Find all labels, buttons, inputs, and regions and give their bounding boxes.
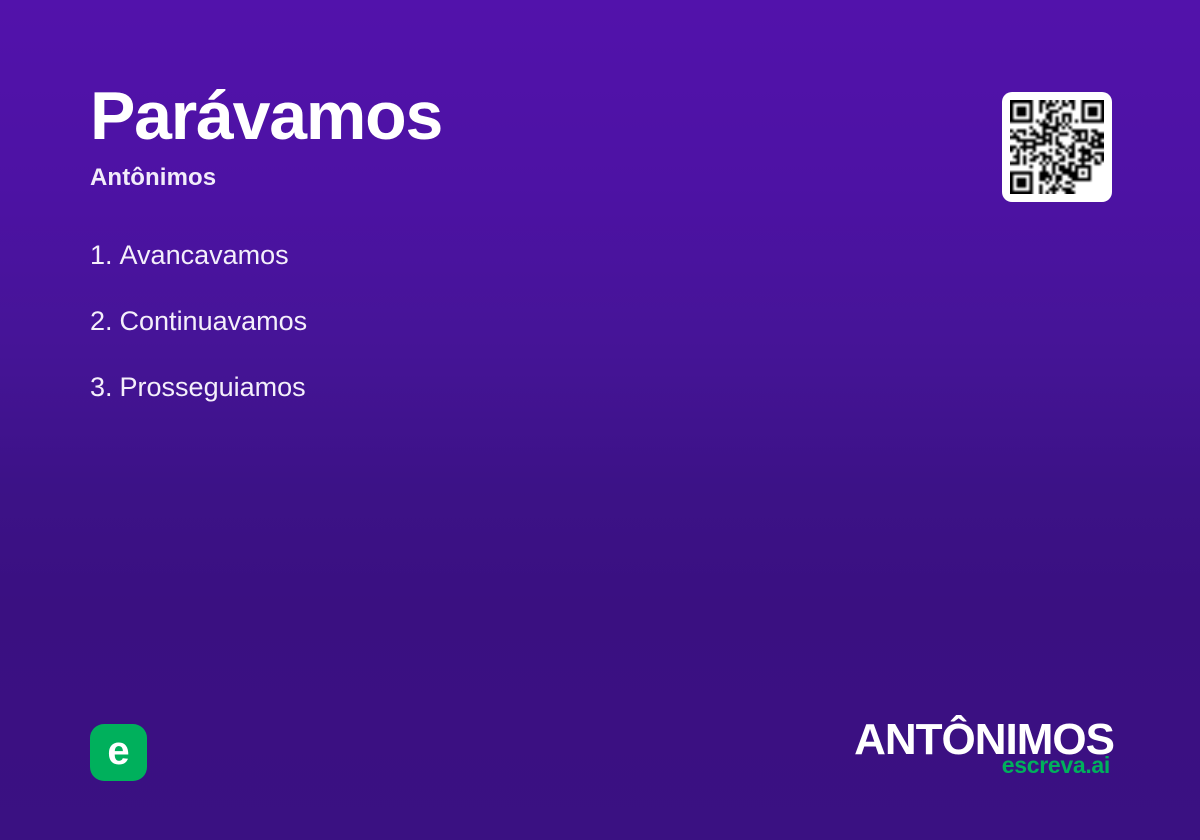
list-item-index: 2.: [90, 306, 113, 336]
list-item: 1.Avancavamos: [90, 240, 850, 270]
list-item-word: Avancavamos: [120, 240, 289, 270]
list-item-word: Prosseguiamos: [120, 372, 306, 402]
logo-letter: e: [107, 731, 129, 771]
page-subtitle: Antônimos: [90, 164, 810, 192]
headline-block: Parávamos Antônimos: [90, 82, 810, 192]
antonyms-card: Parávamos Antônimos 1.Avancavamos 2.Cont…: [0, 0, 1200, 840]
antonym-list: 1.Avancavamos 2.Continuavamos 3.Prossegu…: [90, 240, 850, 438]
list-item-word: Continuavamos: [120, 306, 308, 336]
qr-code[interactable]: [1002, 92, 1112, 202]
list-item: 2.Continuavamos: [90, 306, 850, 336]
qr-code-icon: [1010, 100, 1104, 194]
list-item-index: 3.: [90, 372, 113, 402]
page-title: Parávamos: [90, 82, 810, 150]
list-item: 3.Prosseguiamos: [90, 372, 850, 402]
list-item-index: 1.: [90, 240, 113, 270]
brand-wordmark: ANTÔNIMOS escreva.ai: [784, 718, 1114, 777]
escreva-e-logo-icon[interactable]: e: [90, 724, 147, 781]
